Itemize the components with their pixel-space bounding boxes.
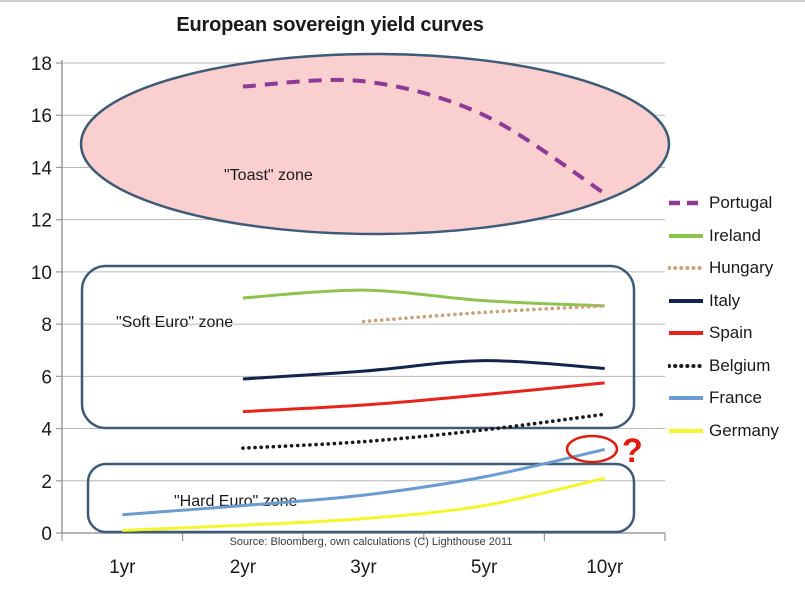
soft-euro-zone-label: "Soft Euro" zone [116,314,233,331]
series-line-spain [243,383,605,412]
toast-zone-label: "Toast" zone [224,167,313,184]
legend-label: Portugal [709,193,772,213]
y-tick-label: 16 [31,106,52,127]
x-axis-tick-labels: 1yr2yr3yr5yr10yr [109,557,624,578]
legend-label: Italy [709,291,740,311]
legend-item-portugal[interactable]: Portugal [668,187,805,220]
legend-label: Hungary [709,258,773,278]
y-tick-label: 18 [31,54,52,75]
y-tick-label: 2 [41,472,52,493]
x-tick-label: 2yr [230,557,257,578]
question-mark-annotation: ? [622,432,643,470]
x-tick-label: 1yr [109,557,136,578]
legend-swatch-france [668,391,704,405]
chart-legend: PortugalIrelandHungaryItalySpainBelgiumF… [668,187,805,447]
legend-label: Ireland [709,226,761,246]
legend-label: Spain [709,323,752,343]
series-line-belgium [243,414,605,448]
legend-swatch-belgium [668,359,704,373]
legend-item-hungary[interactable]: Hungary [668,252,805,285]
y-tick-label: 8 [41,315,52,336]
hard-euro-zone-box [88,464,634,532]
y-tick-label: 10 [31,263,52,284]
legend-item-italy[interactable]: Italy [668,285,805,318]
legend-swatch-italy [668,294,704,308]
legend-item-spain[interactable]: Spain [668,317,805,350]
y-tick-label: 14 [31,158,53,179]
legend-swatch-spain [668,326,704,340]
y-tick-label: 0 [41,524,52,545]
source-note: Source: Bloomberg, own calculations (C) … [230,536,513,548]
x-tick-label: 3yr [350,557,377,578]
legend-label: France [709,388,762,408]
y-tick-label: 4 [41,420,52,441]
legend-item-germany[interactable]: Germany [668,415,805,448]
legend-swatch-ireland [668,229,704,243]
x-tick-label: 5yr [471,557,498,578]
series-line-hungary [364,306,605,322]
chart-container: European sovereign yield curves 02468101… [0,0,805,587]
legend-item-ireland[interactable]: Ireland [668,220,805,253]
legend-swatch-hungary [668,261,704,275]
legend-swatch-portugal [668,196,704,210]
y-axis-tick-labels: 024681012141618 [31,54,62,545]
y-tick-label: 12 [31,211,52,232]
x-tick-label: 10yr [586,557,624,578]
series-line-ireland [243,290,605,306]
legend-label: Germany [709,421,779,441]
france-10yr-highlight-ellipse [567,436,617,462]
legend-item-belgium[interactable]: Belgium [668,350,805,383]
legend-label: Belgium [709,356,770,376]
legend-item-france[interactable]: France [668,382,805,415]
y-tick-label: 6 [41,367,52,388]
legend-swatch-germany [668,424,704,438]
